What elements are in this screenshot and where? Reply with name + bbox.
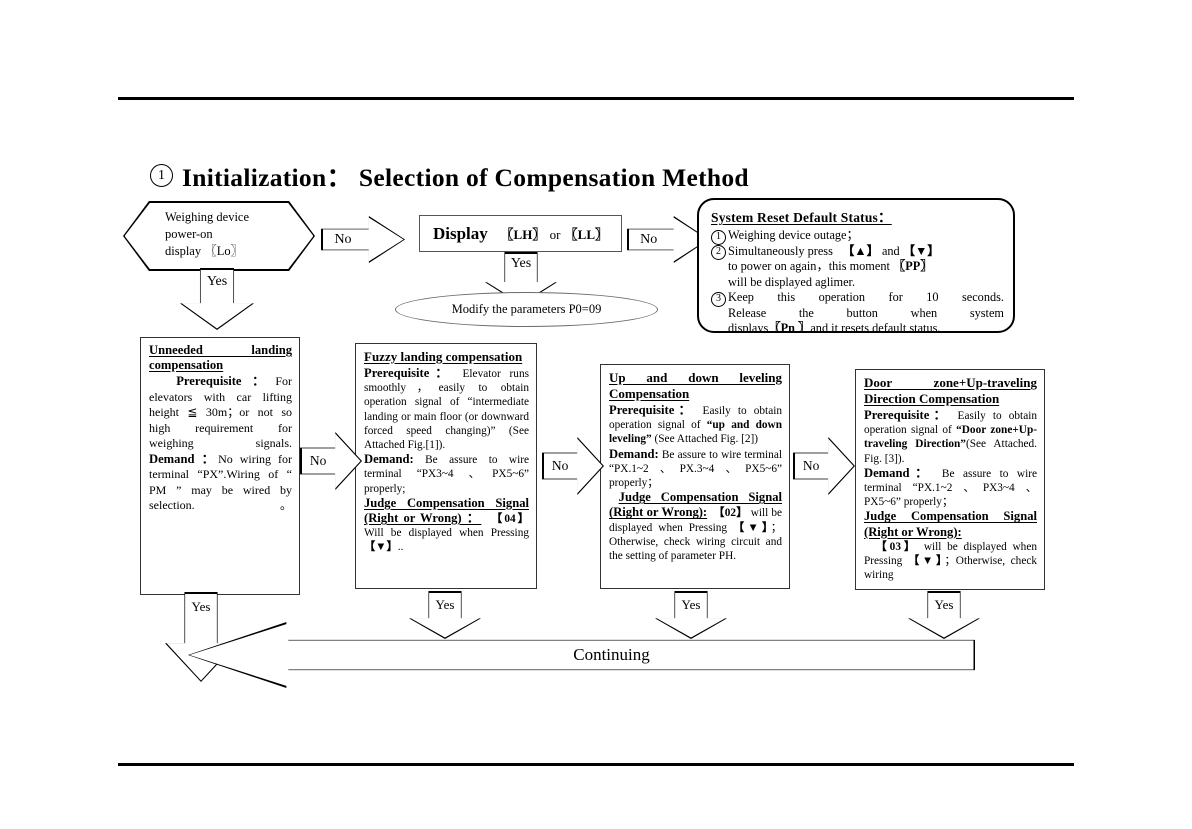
arrow-no-fuzzy-to-updown: No — [542, 437, 604, 495]
page-title-text: Initialization： Selection of Compensatio… — [182, 157, 749, 194]
arrow-fill — [302, 434, 361, 489]
judge-code: 【04】 — [491, 513, 529, 525]
box-fuzzy-landing-compensation: Fuzzy landing compensation Prerequisite：… — [355, 343, 537, 589]
judge-tail: .. — [398, 541, 404, 553]
header-rule — [118, 97, 1074, 100]
key-down-icon: 【▼】 — [364, 541, 398, 553]
node-power-on-label: Weighing device power-on display 〖Lo〗 — [165, 209, 249, 260]
footer-rule — [118, 763, 1074, 766]
display-ll-code: 〖LL〗 — [565, 227, 608, 242]
code-pn: 〖Pn 〗 — [768, 321, 810, 333]
box-prerequisite: Prerequisite： Easily to obtain operation… — [864, 408, 1037, 466]
step-text-part-b: Release the button when system — [728, 306, 1004, 322]
arrow-yes-power-on-to-unneeded: Yes — [180, 268, 254, 330]
step-number-badge: 3 — [711, 292, 726, 307]
box-judge: Judge Compensation Signal (Right or Wron… — [864, 509, 1037, 582]
step-text-part-c: displays — [728, 321, 768, 333]
demand-label: Demand ： — [149, 452, 218, 466]
arrow-fill — [182, 270, 253, 329]
code-pp: 〖PP〗 — [893, 259, 933, 273]
prerequisite-label: Prerequisite： — [864, 408, 950, 422]
arrow-continuing: Continuing — [188, 622, 975, 688]
arrow-fill — [795, 439, 854, 494]
box-title: Unneeded landing compensation — [149, 343, 292, 373]
arrow-label: Continuing — [188, 622, 975, 688]
box-title: Fuzzy landing compensation — [364, 349, 529, 365]
step-text-part-d: and it resets default status. — [810, 321, 940, 333]
arrow-fill — [323, 218, 404, 262]
box-demand: Demand ：No wiring for terminal “PX”.Wiri… — [149, 452, 292, 514]
step-text-part-b: to power on again，this moment — [728, 259, 890, 273]
demand-label: Demand: — [609, 447, 659, 461]
arrow-fill — [544, 439, 603, 494]
arrow-no-updown-to-doorzone: No — [793, 437, 855, 495]
box-judge: Judge Compensation Signal (Right or Wron… — [364, 496, 529, 555]
arrow-no-power-on-to-display: No — [321, 216, 405, 263]
section-number-badge: 1 — [150, 164, 173, 187]
judge-code: 【03】 — [875, 541, 918, 553]
panel-system-reset-default-status: System Reset Default Status： 1 Weighing … — [697, 198, 1015, 333]
box-unneeded-landing-compensation: Unneeded landing compensation Prerequisi… — [140, 337, 300, 595]
box-title: Door zone+Up-traveling Direction Compens… — [864, 375, 1037, 407]
step-text-part-a: Keep this operation for 10 seconds. — [728, 290, 1004, 306]
step-number-badge: 1 — [711, 230, 726, 245]
prerequisite-label: Prerequisite： — [609, 403, 695, 417]
key-down-icon: 【▼】 — [733, 522, 771, 534]
system-reset-step-list: 1 Weighing device outage； 2 Simultaneous… — [711, 228, 1004, 333]
box-prerequisite: Prerequisite： Elevator runs smoothly，eas… — [364, 366, 529, 452]
system-reset-step-1: 1 Weighing device outage； — [711, 228, 1004, 244]
step-number-badge: 2 — [711, 245, 726, 260]
system-reset-step-3: 3 Keep this operation for 10 seconds. Re… — [711, 290, 1004, 333]
arrow-fill — [629, 218, 708, 262]
key-down-icon: 【▼】 — [908, 555, 945, 567]
prerequisite-text: Elevator runs smoothly，easily to obtain … — [364, 368, 529, 451]
node-modify-parameters: Modify the parameters P0=09 — [395, 292, 658, 327]
prerequisite-text-b: (See Attached Fig. [2]) — [655, 433, 759, 445]
box-judge: Judge Compensation Signal (Right or Wron… — [609, 490, 782, 563]
page-title: 1 Initialization： Selection of Compensat… — [150, 157, 749, 194]
step-text-part-a: Simultaneously press — [728, 244, 833, 258]
display-or-text: or — [550, 227, 561, 242]
box-demand: Demand： Be assure to wire terminal “PX.1… — [864, 466, 1037, 510]
display-prefix-text: Display — [433, 224, 488, 243]
judge-label: Judge Compensation Signal (Right or Wron… — [864, 509, 1037, 538]
box-prerequisite: Prerequisite：For elevators with car lift… — [149, 374, 292, 452]
node-power-on-hexagon: Weighing device power-on display 〖Lo〗 — [123, 201, 315, 271]
step-text: Weighing device outage； — [728, 228, 859, 242]
display-lh-code: 〖LH〗 — [501, 227, 546, 242]
box-title: Up and down leveling Compensation — [609, 370, 782, 402]
node-display-lh-ll: Display 〖LH〗 or 〖LL〗 — [419, 215, 622, 252]
prerequisite-label: Prerequisite： — [364, 366, 454, 380]
box-prerequisite: Prerequisite： Easily to obtain operation… — [609, 403, 782, 447]
demand-label: Demand： — [864, 466, 933, 480]
box-up-and-down-leveling-compensation: Up and down leveling Compensation Prereq… — [600, 364, 790, 589]
step-conjunction: and — [882, 244, 900, 258]
node-display-label: Display 〖LH〗 or 〖LL〗 — [433, 224, 608, 244]
judge-text: Will be displayed when Pressing — [364, 527, 529, 539]
arrow-no-unneeded-to-fuzzy: No — [300, 432, 362, 490]
system-reset-step-2: 2 Simultaneously press 【▲】 and 【▼】 to po… — [711, 244, 1004, 291]
prerequisite-label: Prerequisite： — [176, 374, 275, 388]
panel-title: System Reset Default Status： — [711, 206, 892, 226]
key-up-icon: 【▲】 — [842, 244, 879, 258]
demand-label: Demand: — [364, 452, 414, 466]
box-door-zone-up-traveling-compensation: Door zone+Up-traveling Direction Compens… — [855, 369, 1045, 590]
box-demand: Demand: Be assure to wire terminal “PX.1… — [609, 447, 782, 491]
box-demand: Demand: Be assure to wire terminal “PX3~… — [364, 452, 529, 496]
node-modify-parameters-label: Modify the parameters P0=09 — [452, 302, 602, 317]
key-down-icon: 【▼】 — [903, 244, 940, 258]
judge-code: 【02】 — [713, 507, 748, 519]
step-text-part-c: will be displayed aglimer. — [728, 275, 855, 289]
